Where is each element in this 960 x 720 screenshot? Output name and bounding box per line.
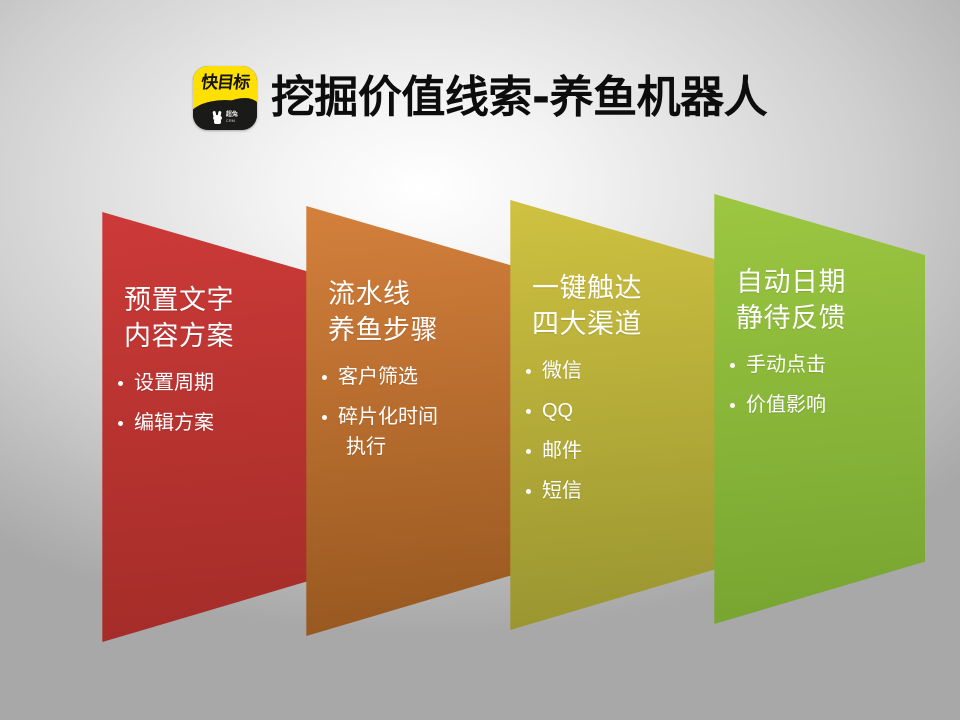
chevron-title-line: 自动日期 [736, 264, 896, 300]
chevron-title: 一键触达四大渠道 [522, 270, 692, 342]
chevron-bullet-text: QQ [542, 400, 573, 422]
slide-canvas: 快目标 超兔 CRM 挖掘价值线索-养鱼机器人 预置文字内容方案 设置周期编辑方… [0, 0, 960, 720]
chevron-bullet-item: 手动点击 [726, 350, 896, 380]
chevron-bullet-text: 执行 [338, 432, 488, 462]
chevron-bullet-item: 微信 [522, 356, 692, 386]
chevron-content: 自动日期静待反馈 手动点击价值影响 [726, 264, 896, 430]
chevron-bullet-item: 碎片化时间执行 [318, 402, 488, 462]
chevron-content: 流水线养鱼步骤 客户筛选碎片化时间执行 [318, 276, 488, 472]
bullet-dot-icon [526, 369, 531, 374]
bullet-dot-icon [526, 489, 531, 494]
chevron-title: 预置文字内容方案 [114, 282, 284, 354]
chevron-bullet-list: 手动点击价值影响 [726, 350, 896, 420]
chevron-bullet-text: 编辑方案 [134, 412, 214, 434]
chevron-bullet-item: 客户筛选 [318, 362, 488, 392]
chevron-title-line: 内容方案 [124, 318, 284, 354]
chevron-content: 预置文字内容方案 设置周期编辑方案 [114, 282, 284, 448]
chevron-title-line: 静待反馈 [736, 300, 896, 336]
bullet-dot-icon [526, 449, 531, 454]
bullet-dot-icon [118, 421, 123, 426]
chevron-title-line: 一键触达 [532, 270, 692, 306]
chevron-bullet-text: 客户筛选 [338, 366, 418, 388]
chevron-bullet-item: 设置周期 [114, 368, 284, 398]
chevron-title-line: 养鱼步骤 [328, 312, 488, 348]
chevron-title-line: 四大渠道 [532, 306, 692, 342]
chevron-bullet-item: 价值影响 [726, 390, 896, 420]
chevron-bullet-text: 微信 [542, 360, 582, 382]
chevron-bullet-text: 碎片化时间 [338, 406, 438, 428]
chevron-title: 流水线养鱼步骤 [318, 276, 488, 348]
chevron-bullet-text: 短信 [542, 480, 582, 502]
chevron-bullet-list: 微信QQ邮件短信 [522, 356, 692, 506]
bullet-dot-icon [322, 415, 327, 420]
chevron-bullet-text: 手动点击 [746, 354, 826, 376]
chevron-bullet-text: 价值影响 [746, 394, 826, 416]
chevron-pipeline[interactable]: 流水线养鱼步骤 客户筛选碎片化时间执行 [302, 206, 517, 636]
chevron-title-line: 预置文字 [124, 282, 284, 318]
bullet-dot-icon [526, 409, 531, 414]
chevron-content: 一键触达四大渠道 微信QQ邮件短信 [522, 270, 692, 516]
chevron-bullet-item: 邮件 [522, 436, 692, 466]
chevron-preset-text[interactable]: 预置文字内容方案 设置周期编辑方案 [98, 212, 313, 642]
chevron-auto-date[interactable]: 自动日期静待反馈 手动点击价值影响 [710, 194, 925, 624]
bullet-dot-icon [322, 375, 327, 380]
bullet-dot-icon [730, 403, 735, 408]
chevron-bullet-list: 设置周期编辑方案 [114, 368, 284, 438]
chevron-title-line: 流水线 [328, 276, 488, 312]
chevron-one-click-reach[interactable]: 一键触达四大渠道 微信QQ邮件短信 [506, 200, 721, 630]
chevron-title: 自动日期静待反馈 [726, 264, 896, 336]
bullet-dot-icon [118, 381, 123, 386]
chevron-bullet-item: QQ [522, 396, 692, 426]
chevron-bullet-item: 编辑方案 [114, 408, 284, 438]
chevron-bullet-text: 邮件 [542, 440, 582, 462]
chevron-bullet-text: 设置周期 [134, 372, 214, 394]
chevron-group: 预置文字内容方案 设置周期编辑方案 流水线养鱼步骤 客户筛选碎片化时间执行 一键… [0, 0, 960, 720]
chevron-bullet-list: 客户筛选碎片化时间执行 [318, 362, 488, 462]
chevron-bullet-item: 短信 [522, 476, 692, 506]
bullet-dot-icon [730, 363, 735, 368]
